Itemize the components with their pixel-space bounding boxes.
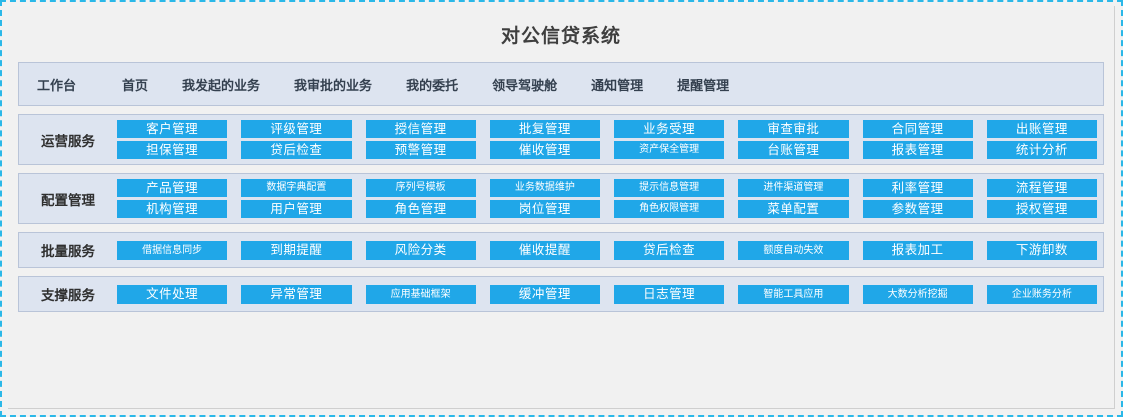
- module-button[interactable]: 产品管理: [117, 179, 227, 197]
- nav-item-4[interactable]: 我的委托: [406, 75, 458, 94]
- module-button[interactable]: 贷后检查: [614, 241, 724, 260]
- module-button[interactable]: 借据信息同步: [117, 241, 227, 260]
- module-button[interactable]: 授信管理: [366, 120, 476, 138]
- nav-item-2[interactable]: 我发起的业务: [182, 75, 260, 94]
- nav-item-0[interactable]: 工作台: [37, 75, 76, 94]
- module-button[interactable]: 下游卸数: [987, 241, 1097, 260]
- nav-item-5[interactable]: 领导驾驶舱: [492, 75, 557, 94]
- app-window: 对公信贷系统 工作台首页我发起的业务我审批的业务我的委托领导驾驶舱通知管理提醒管…: [8, 6, 1115, 409]
- module-button[interactable]: 机构管理: [117, 200, 227, 218]
- module-button[interactable]: 台账管理: [738, 141, 848, 159]
- section-button-grid: 文件处理异常管理应用基础框架缓冲管理日志管理智能工具应用大数分析挖掘企业账务分析: [117, 285, 1097, 304]
- section-3: 支撑服务文件处理异常管理应用基础框架缓冲管理日志管理智能工具应用大数分析挖掘企业…: [18, 276, 1104, 312]
- module-button[interactable]: 报表加工: [863, 241, 973, 260]
- module-button[interactable]: 业务受理: [614, 120, 724, 138]
- module-button[interactable]: 应用基础框架: [366, 285, 476, 304]
- module-button[interactable]: 报表管理: [863, 141, 973, 159]
- section-0: 运营服务客户管理评级管理授信管理批复管理业务受理审查审批合同管理出账管理担保管理…: [18, 114, 1104, 165]
- module-button[interactable]: 授权管理: [987, 200, 1097, 218]
- module-button[interactable]: 菜单配置: [738, 200, 848, 218]
- nav-item-6[interactable]: 通知管理: [591, 75, 643, 94]
- module-button[interactable]: 催收管理: [490, 141, 600, 159]
- section-button-grid: 产品管理数据字典配置序列号模板业务数据维护提示信息管理进件渠道管理利率管理流程管…: [117, 179, 1097, 218]
- section-label: 配置管理: [19, 189, 117, 209]
- section-label: 运营服务: [19, 130, 117, 150]
- module-button[interactable]: 进件渠道管理: [738, 179, 848, 197]
- module-button[interactable]: 利率管理: [863, 179, 973, 197]
- section-2: 批量服务借据信息同步到期提醒风险分类催收提醒贷后检查额度自动失效报表加工下游卸数: [18, 232, 1104, 268]
- module-button[interactable]: 流程管理: [987, 179, 1097, 197]
- module-button[interactable]: 业务数据维护: [490, 179, 600, 197]
- module-button[interactable]: 额度自动失效: [738, 241, 848, 260]
- page-title: 对公信贷系统: [18, 6, 1104, 62]
- app-canvas: 对公信贷系统 工作台首页我发起的业务我审批的业务我的委托领导驾驶舱通知管理提醒管…: [0, 0, 1123, 417]
- nav-item-7[interactable]: 提醒管理: [677, 75, 729, 94]
- module-button[interactable]: 大数分析挖掘: [863, 285, 973, 304]
- module-button[interactable]: 岗位管理: [490, 200, 600, 218]
- module-button[interactable]: 到期提醒: [241, 241, 351, 260]
- module-button[interactable]: 风险分类: [366, 241, 476, 260]
- section-button-grid: 客户管理评级管理授信管理批复管理业务受理审查审批合同管理出账管理担保管理贷后检查…: [117, 120, 1097, 159]
- module-button[interactable]: 合同管理: [863, 120, 973, 138]
- module-button[interactable]: 数据字典配置: [241, 179, 351, 197]
- module-button[interactable]: 企业账务分析: [987, 285, 1097, 304]
- nav-item-3[interactable]: 我审批的业务: [294, 75, 372, 94]
- module-button[interactable]: 缓冲管理: [490, 285, 600, 304]
- module-button[interactable]: 担保管理: [117, 141, 227, 159]
- module-button[interactable]: 预警管理: [366, 141, 476, 159]
- module-button[interactable]: 客户管理: [117, 120, 227, 138]
- module-button[interactable]: 用户管理: [241, 200, 351, 218]
- module-button[interactable]: 贷后检查: [241, 141, 351, 159]
- module-button[interactable]: 批复管理: [490, 120, 600, 138]
- module-button[interactable]: 角色管理: [366, 200, 476, 218]
- section-label: 支撑服务: [19, 284, 117, 304]
- module-button[interactable]: 日志管理: [614, 285, 724, 304]
- module-button[interactable]: 序列号模板: [366, 179, 476, 197]
- module-sections: 运营服务客户管理评级管理授信管理批复管理业务受理审查审批合同管理出账管理担保管理…: [18, 114, 1104, 312]
- module-button[interactable]: 审查审批: [738, 120, 848, 138]
- section-button-grid: 借据信息同步到期提醒风险分类催收提醒贷后检查额度自动失效报表加工下游卸数: [117, 241, 1097, 260]
- module-button[interactable]: 异常管理: [241, 285, 351, 304]
- module-button[interactable]: 出账管理: [987, 120, 1097, 138]
- module-button[interactable]: 智能工具应用: [738, 285, 848, 304]
- module-button[interactable]: 文件处理: [117, 285, 227, 304]
- module-button[interactable]: 统计分析: [987, 141, 1097, 159]
- module-button[interactable]: 评级管理: [241, 120, 351, 138]
- module-button[interactable]: 资产保全管理: [614, 141, 724, 159]
- module-button[interactable]: 提示信息管理: [614, 179, 724, 197]
- module-button[interactable]: 催收提醒: [490, 241, 600, 260]
- main-navigation: 工作台首页我发起的业务我审批的业务我的委托领导驾驶舱通知管理提醒管理: [18, 62, 1104, 106]
- module-button[interactable]: 参数管理: [863, 200, 973, 218]
- section-label: 批量服务: [19, 240, 117, 260]
- section-1: 配置管理产品管理数据字典配置序列号模板业务数据维护提示信息管理进件渠道管理利率管…: [18, 173, 1104, 224]
- nav-item-1[interactable]: 首页: [122, 75, 148, 94]
- module-button[interactable]: 角色权限管理: [614, 200, 724, 218]
